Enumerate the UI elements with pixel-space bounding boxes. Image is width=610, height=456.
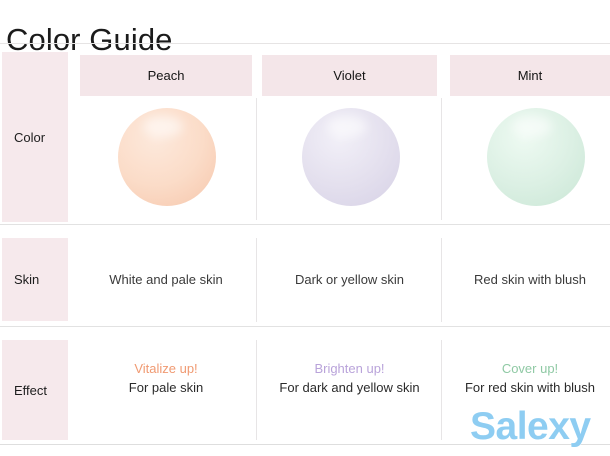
column-divider-1-effect-row <box>256 340 257 440</box>
row-label-effect-text: Effect <box>14 383 47 398</box>
color-swatch-peach <box>118 108 216 206</box>
swatch-highlight-icon <box>512 116 551 138</box>
swatch-highlight-icon <box>143 116 182 138</box>
column-header-violet: Violet <box>262 55 437 96</box>
skin-text-mint: Red skin with blush <box>474 271 586 288</box>
row-label-skin: Skin <box>2 238 68 321</box>
swatch-highlight-icon <box>327 116 366 138</box>
effect-sub-violet: For dark and yellow skin <box>279 378 419 397</box>
effect-cell-violet: Brighten up! For dark and yellow skin <box>262 340 437 416</box>
row-label-skin-text: Skin <box>14 272 39 287</box>
row-divider-skin-effect <box>0 326 610 327</box>
color-swatch-violet <box>302 108 400 206</box>
effect-cell-peach: Vitalize up! For pale skin <box>80 340 252 416</box>
skin-text-peach: White and pale skin <box>109 271 222 288</box>
color-guide-page: Color Guide Color Skin Effect Peach Viol… <box>0 0 610 456</box>
watermark-salexy: Salexy <box>470 404 591 450</box>
column-header-peach-text: Peach <box>148 68 185 83</box>
column-header-mint: Mint <box>450 55 610 96</box>
skin-cell-peach: White and pale skin <box>80 238 252 321</box>
column-divider-2-effect-row <box>441 340 442 440</box>
column-divider-1-skin-row <box>256 238 257 322</box>
row-label-color-text: Color <box>14 130 45 145</box>
effect-headline-mint: Cover up! <box>502 359 558 378</box>
color-swatch-mint <box>487 108 585 206</box>
column-divider-2-skin-row <box>441 238 442 322</box>
effect-headline-peach: Vitalize up! <box>134 359 197 378</box>
title-divider <box>0 43 610 44</box>
column-header-mint-text: Mint <box>518 68 543 83</box>
skin-cell-mint: Red skin with blush <box>450 238 610 321</box>
row-label-effect: Effect <box>2 340 68 440</box>
effect-headline-violet: Brighten up! <box>314 359 384 378</box>
column-header-violet-text: Violet <box>333 68 365 83</box>
skin-cell-violet: Dark or yellow skin <box>262 238 437 321</box>
row-divider-color-skin <box>0 224 610 225</box>
column-divider-2-color-row <box>441 98 442 220</box>
column-header-peach: Peach <box>80 55 252 96</box>
effect-sub-peach: For pale skin <box>129 378 203 397</box>
skin-text-violet: Dark or yellow skin <box>295 271 404 288</box>
row-label-color: Color <box>2 52 68 222</box>
effect-sub-mint: For red skin with blush <box>465 378 595 397</box>
column-divider-1-color-row <box>256 98 257 220</box>
